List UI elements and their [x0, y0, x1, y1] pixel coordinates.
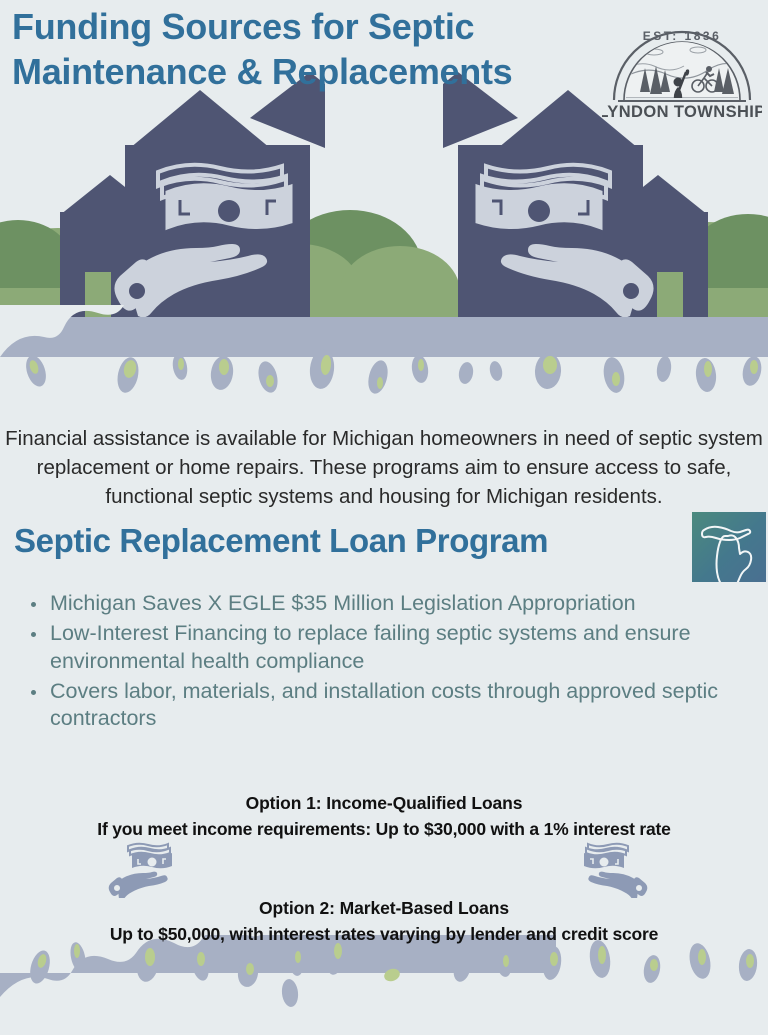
section-header: Septic Replacement Loan Program — [0, 520, 768, 572]
option-2-heading: Option 2: Market-Based Loans — [0, 895, 768, 921]
page-title-line-2: Maintenance & Replacements — [12, 49, 587, 94]
poster-header: Funding Sources for Septic Maintenance &… — [0, 0, 768, 128]
option-2-detail: Up to $50,000, with interest rates varyi… — [0, 921, 768, 947]
hand-holding-money-icon-small-left — [108, 840, 174, 898]
list-item: Low-Interest Financing to replace failin… — [24, 620, 738, 675]
lyndon-township-logo: EST: 1836 — [602, 8, 762, 120]
option-1-detail: If you meet income requirements: Up to $… — [0, 816, 768, 842]
loan-options-section: Option 1: Income-Qualified Loans If you … — [0, 790, 768, 947]
logo-est-text: EST: 1836 — [643, 29, 722, 43]
option-1-heading: Option 1: Income-Qualified Loans — [0, 790, 768, 816]
list-item: Covers labor, materials, and installatio… — [24, 678, 738, 733]
list-item: Michigan Saves X EGLE $35 Million Legisl… — [24, 590, 738, 617]
section-title: Septic Replacement Loan Program — [14, 520, 548, 561]
program-bullet-list: Michigan Saves X EGLE $35 Million Legisl… — [0, 590, 768, 735]
logo-township-name: LYNDON TOWNSHIP — [602, 103, 762, 120]
intro-paragraph: Financial assistance is available for Mi… — [0, 424, 768, 511]
infographic-poster: Funding Sources for Septic Maintenance &… — [0, 0, 768, 1035]
page-title: Funding Sources for Septic Maintenance &… — [12, 4, 587, 94]
hand-holding-money-icon-small-right — [582, 840, 648, 898]
wave-divider-bottom — [0, 935, 768, 1035]
wave-divider-top — [0, 305, 768, 405]
page-title-line-1: Funding Sources for Septic — [12, 4, 587, 49]
michigan-state-icon — [692, 512, 766, 582]
